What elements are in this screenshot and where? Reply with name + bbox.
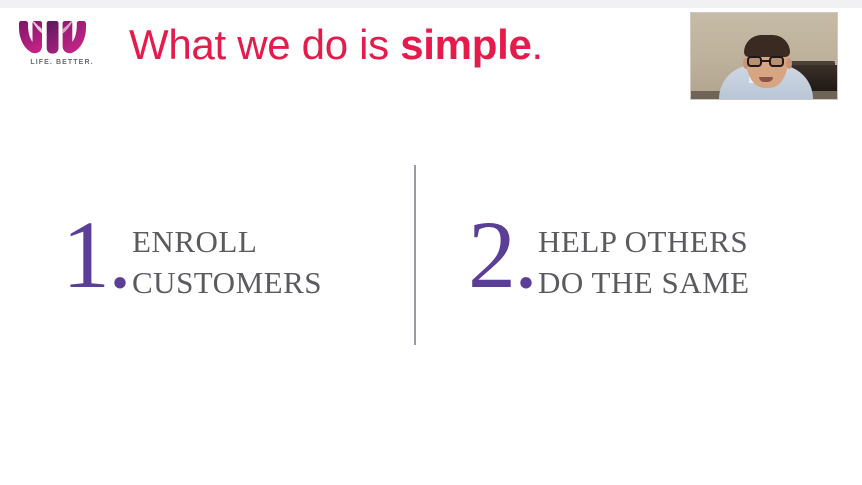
- headline-emphasis: simple: [400, 21, 531, 68]
- step-1-number: 1.: [62, 207, 130, 303]
- presenter-glasses-bridge: [762, 60, 769, 62]
- step-1-line-2: CUSTOMERS: [132, 262, 322, 303]
- brand-logo: LIFE. BETTER.: [18, 18, 110, 74]
- headline-suffix: .: [532, 21, 543, 68]
- step-2-label: HELP OTHERS DO THE SAME: [538, 221, 750, 303]
- slide-headline: What we do is simple.: [129, 19, 543, 71]
- step-2-line-1: HELP OTHERS: [538, 221, 750, 262]
- step-1-label: ENROLL CUSTOMERS: [132, 221, 322, 303]
- viv-logo-icon: [18, 18, 106, 56]
- step-item-1: 1. ENROLL CUSTOMERS: [62, 205, 322, 303]
- headline-prefix: What we do is: [129, 21, 400, 68]
- step-2-line-2: DO THE SAME: [538, 262, 750, 303]
- presenter-glasses-left-lens: [747, 56, 762, 67]
- presentation-slide: LIFE. BETTER. What we do is simple. 1. E…: [0, 0, 862, 485]
- presenter-ear-right: [786, 58, 792, 69]
- step-item-2: 2. HELP OTHERS DO THE SAME: [468, 205, 750, 303]
- step-2-number: 2.: [468, 207, 536, 303]
- vertical-divider: [414, 165, 416, 345]
- presenter-hair: [744, 35, 790, 57]
- top-edge-band: [0, 0, 862, 8]
- presenter-webcam-feed[interactable]: [690, 12, 838, 100]
- brand-tagline: LIFE. BETTER.: [18, 59, 106, 66]
- presenter-glasses-right-lens: [769, 56, 784, 67]
- step-1-line-1: ENROLL: [132, 221, 322, 262]
